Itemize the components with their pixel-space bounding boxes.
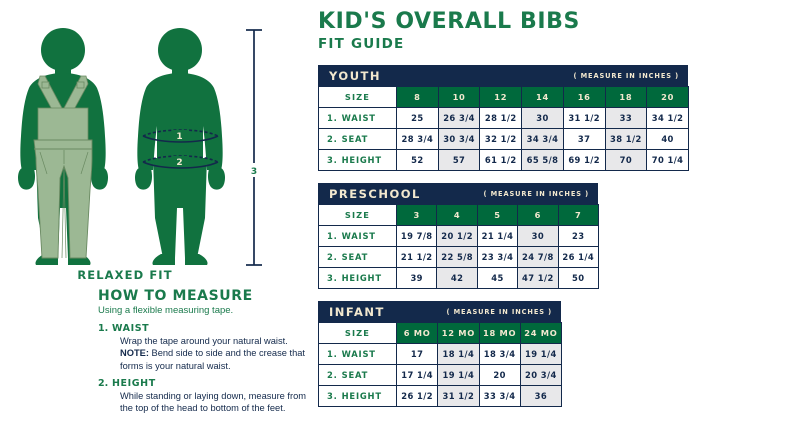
tables-column: KID'S OVERALL BIBS FIT GUIDE YOUTH( MEAS…: [318, 0, 800, 429]
step-heading: HEIGHT: [112, 378, 316, 389]
table-row: 3.HEIGHT39424547 1/250: [319, 268, 599, 289]
measurement-cell: 37: [563, 129, 605, 150]
measurement-cell: 21 1/2: [397, 247, 437, 268]
measurement-cell: 30: [522, 108, 564, 129]
figure-measurements: 1 2 3: [135, 28, 262, 265]
measurement-cell: 39: [397, 268, 437, 289]
row-label-text: SEAT: [342, 252, 369, 262]
measurement-cell: 30 3/4: [438, 129, 480, 150]
measurement-cell: 52: [397, 150, 439, 171]
step-text: Wrap the tape around your natural waist.…: [112, 335, 316, 372]
size-column-header-value: 7: [558, 205, 598, 226]
measurement-cell: 45: [477, 268, 517, 289]
measurement-cell: 28 3/4: [397, 129, 439, 150]
size-column-header-value: 6: [518, 205, 558, 226]
measurement-cell: 50: [558, 268, 598, 289]
illustration-column: 1 2 3 RELAXED FIT HOW TO MEASURE Us: [0, 0, 318, 429]
table-row: 1.WAIST2526 3/428 1/23031 1/23334 1/2: [319, 108, 689, 129]
note-text: Bend side to side and the crease that: [149, 348, 305, 358]
step-line-2: the top of the head to bottom of the fee…: [120, 402, 316, 414]
measurement-cell: 17 1/4: [397, 365, 438, 386]
figure-with-overalls: [18, 28, 108, 265]
size-matrix: SIZE81012141618201.WAIST2526 3/428 1/230…: [318, 86, 689, 171]
size-column-header-value: 12: [480, 87, 522, 108]
size-column-header: SIZE: [319, 205, 397, 226]
size-table-youth: YOUTH( MEASURE IN INCHES )SIZE8101214161…: [318, 65, 688, 171]
measurement-row-label: 3.HEIGHT: [319, 386, 397, 407]
measurement-cell: 33: [605, 108, 647, 129]
step-line-3: forms is your natural waist.: [120, 360, 316, 372]
table-row: 3.HEIGHT525761 1/265 5/869 1/27070 1/4: [319, 150, 689, 171]
measure-step-height: 2. HEIGHT While standing or laying down,…: [98, 378, 316, 415]
figure-illustration: 1 2 3: [0, 18, 318, 268]
table-header-row: SIZE8101214161820: [319, 87, 689, 108]
measurement-row-label: 2.SEAT: [319, 129, 397, 150]
measurement-cell: 34 3/4: [522, 129, 564, 150]
row-label-text: WAIST: [342, 113, 376, 123]
measurement-row-label: 1.WAIST: [319, 226, 397, 247]
measurement-cell: 30: [518, 226, 558, 247]
table-units-note: ( MEASURE IN INCHES ): [483, 190, 589, 198]
size-column-header-value: 5: [477, 205, 517, 226]
measurement-cell: 23: [558, 226, 598, 247]
size-table-preschool: PRESCHOOL( MEASURE IN INCHES )SIZE345671…: [318, 183, 598, 289]
measurement-row-label: 1.WAIST: [319, 108, 397, 129]
size-column-header-value: 24 MO: [520, 323, 561, 344]
measurement-cell: 21 1/4: [477, 226, 517, 247]
measurement-cell: 19 7/8: [397, 226, 437, 247]
note-label: NOTE:: [120, 348, 149, 358]
step-number: 2.: [98, 378, 112, 415]
row-number: 2.: [327, 252, 338, 262]
measurement-cell: 23 3/4: [477, 247, 517, 268]
step-heading: WAIST: [112, 323, 316, 334]
step-text: While standing or laying down, measure f…: [112, 390, 316, 415]
measurement-cell: 20: [479, 365, 520, 386]
measurement-cell: 31 1/2: [563, 108, 605, 129]
measurement-cell: 28 1/2: [480, 108, 522, 129]
row-number: 3.: [327, 391, 338, 401]
measurement-cell: 34 1/2: [647, 108, 689, 129]
measurement-cell: 26 1/2: [397, 386, 438, 407]
size-column-header-value: 14: [522, 87, 564, 108]
table-row: 1.WAIST19 7/820 1/221 1/43023: [319, 226, 599, 247]
measurement-cell: 20 1/2: [437, 226, 477, 247]
table-units-note: ( MEASURE IN INCHES ): [446, 308, 552, 316]
table-category-label: YOUTH: [329, 69, 381, 83]
measurement-cell: 19 1/4: [520, 344, 561, 365]
size-column-header-value: 3: [397, 205, 437, 226]
measurement-cell: 36: [520, 386, 561, 407]
row-label-text: HEIGHT: [342, 273, 382, 283]
measurement-cell: 19 1/4: [438, 365, 479, 386]
row-number: 2.: [327, 134, 338, 144]
size-column-header-value: 8: [397, 87, 439, 108]
measurement-cell: 65 5/8: [522, 150, 564, 171]
how-to-measure-title: HOW TO MEASURE: [98, 288, 316, 304]
table-banner: INFANT( MEASURE IN INCHES ): [318, 301, 561, 322]
fit-guide-page: 1 2 3 RELAXED FIT HOW TO MEASURE Us: [0, 0, 800, 429]
measurement-row-label: 2.SEAT: [319, 247, 397, 268]
row-label-text: HEIGHT: [342, 391, 382, 401]
table-header-row: SIZE34567: [319, 205, 599, 226]
step-line-1: Wrap the tape around your natural waist.: [120, 335, 316, 347]
relaxed-fit-label: RELAXED FIT: [0, 268, 250, 282]
measurement-cell: 40: [647, 129, 689, 150]
measurement-cell: 57: [438, 150, 480, 171]
row-label-text: WAIST: [342, 231, 376, 241]
row-label-text: WAIST: [342, 349, 376, 359]
measurement-row-label: 3.HEIGHT: [319, 150, 397, 171]
size-column-header-value: 10: [438, 87, 480, 108]
table-row: 2.SEAT28 3/430 3/432 1/234 3/43738 1/240: [319, 129, 689, 150]
how-to-measure-subtitle: Using a flexible measuring tape.: [98, 305, 316, 316]
measure-step-waist: 1. WAIST Wrap the tape around your natur…: [98, 323, 316, 372]
row-label-text: SEAT: [342, 370, 369, 380]
measurement-row-label: 1.WAIST: [319, 344, 397, 365]
size-column-header-value: 20: [647, 87, 689, 108]
table-header-row: SIZE6 MO12 MO18 MO24 MO: [319, 323, 562, 344]
measurement-cell: 17: [397, 344, 438, 365]
measurement-cell: 22 5/8: [437, 247, 477, 268]
table-category-label: PRESCHOOL: [329, 187, 421, 201]
row-label-text: SEAT: [342, 134, 369, 144]
table-row: 3.HEIGHT26 1/231 1/233 3/436: [319, 386, 562, 407]
marker-height-label: 3: [251, 167, 257, 177]
size-table-infant: INFANT( MEASURE IN INCHES )SIZE6 MO12 MO…: [318, 301, 561, 407]
measurement-cell: 42: [437, 268, 477, 289]
size-column-header: SIZE: [319, 87, 397, 108]
measurement-cell: 38 1/2: [605, 129, 647, 150]
measurement-cell: 33 3/4: [479, 386, 520, 407]
size-column-header-value: 18: [605, 87, 647, 108]
page-title: KID'S OVERALL BIBS: [318, 10, 800, 33]
measurement-cell: 20 3/4: [520, 365, 561, 386]
size-matrix: SIZE6 MO12 MO18 MO24 MO1.WAIST1718 1/418…: [318, 322, 562, 407]
size-column-header-value: 4: [437, 205, 477, 226]
table-row: 2.SEAT21 1/222 5/823 3/424 7/826 1/4: [319, 247, 599, 268]
measurement-row-label: 2.SEAT: [319, 365, 397, 386]
table-category-label: INFANT: [329, 305, 385, 319]
table-row: 1.WAIST1718 1/418 3/419 1/4: [319, 344, 562, 365]
marker-seat-label: 2: [176, 158, 182, 168]
size-column-header-value: 18 MO: [479, 323, 520, 344]
marker-waist-label: 1: [176, 132, 182, 142]
row-number: 1.: [327, 231, 338, 241]
row-label-text: HEIGHT: [342, 155, 382, 165]
page-subtitle: FIT GUIDE: [318, 36, 800, 52]
measurement-cell: 26 3/4: [438, 108, 480, 129]
measurement-cell: 24 7/8: [518, 247, 558, 268]
size-matrix: SIZE345671.WAIST19 7/820 1/221 1/430232.…: [318, 204, 599, 289]
measurement-row-label: 3.HEIGHT: [319, 268, 397, 289]
size-column-header-value: 6 MO: [397, 323, 438, 344]
measurement-cell: 31 1/2: [438, 386, 479, 407]
how-to-measure-section: HOW TO MEASURE Using a flexible measurin…: [98, 288, 316, 420]
table-banner: PRESCHOOL( MEASURE IN INCHES ): [318, 183, 598, 204]
row-number: 3.: [327, 155, 338, 165]
table-banner: YOUTH( MEASURE IN INCHES ): [318, 65, 688, 86]
measurement-cell: 25: [397, 108, 439, 129]
measurement-cell: 26 1/4: [558, 247, 598, 268]
table-row: 2.SEAT17 1/419 1/42020 3/4: [319, 365, 562, 386]
measurement-cell: 18 1/4: [438, 344, 479, 365]
size-column-header-value: 16: [563, 87, 605, 108]
step-line-1: While standing or laying down, measure f…: [120, 390, 316, 402]
table-units-note: ( MEASURE IN INCHES ): [573, 72, 679, 80]
size-column-header-value: 12 MO: [438, 323, 479, 344]
row-number: 2.: [327, 370, 338, 380]
measurement-cell: 70 1/4: [647, 150, 689, 171]
row-number: 1.: [327, 349, 338, 359]
size-tables: YOUTH( MEASURE IN INCHES )SIZE8101214161…: [318, 65, 800, 407]
size-column-header: SIZE: [319, 323, 397, 344]
measurement-cell: 70: [605, 150, 647, 171]
row-number: 3.: [327, 273, 338, 283]
measurement-cell: 69 1/2: [563, 150, 605, 171]
measurement-cell: 47 1/2: [518, 268, 558, 289]
measurement-cell: 32 1/2: [480, 129, 522, 150]
measurement-cell: 18 3/4: [479, 344, 520, 365]
row-number: 1.: [327, 113, 338, 123]
step-note: NOTE: Bend side to side and the crease t…: [120, 347, 316, 359]
step-number: 1.: [98, 323, 112, 372]
measurement-cell: 61 1/2: [480, 150, 522, 171]
